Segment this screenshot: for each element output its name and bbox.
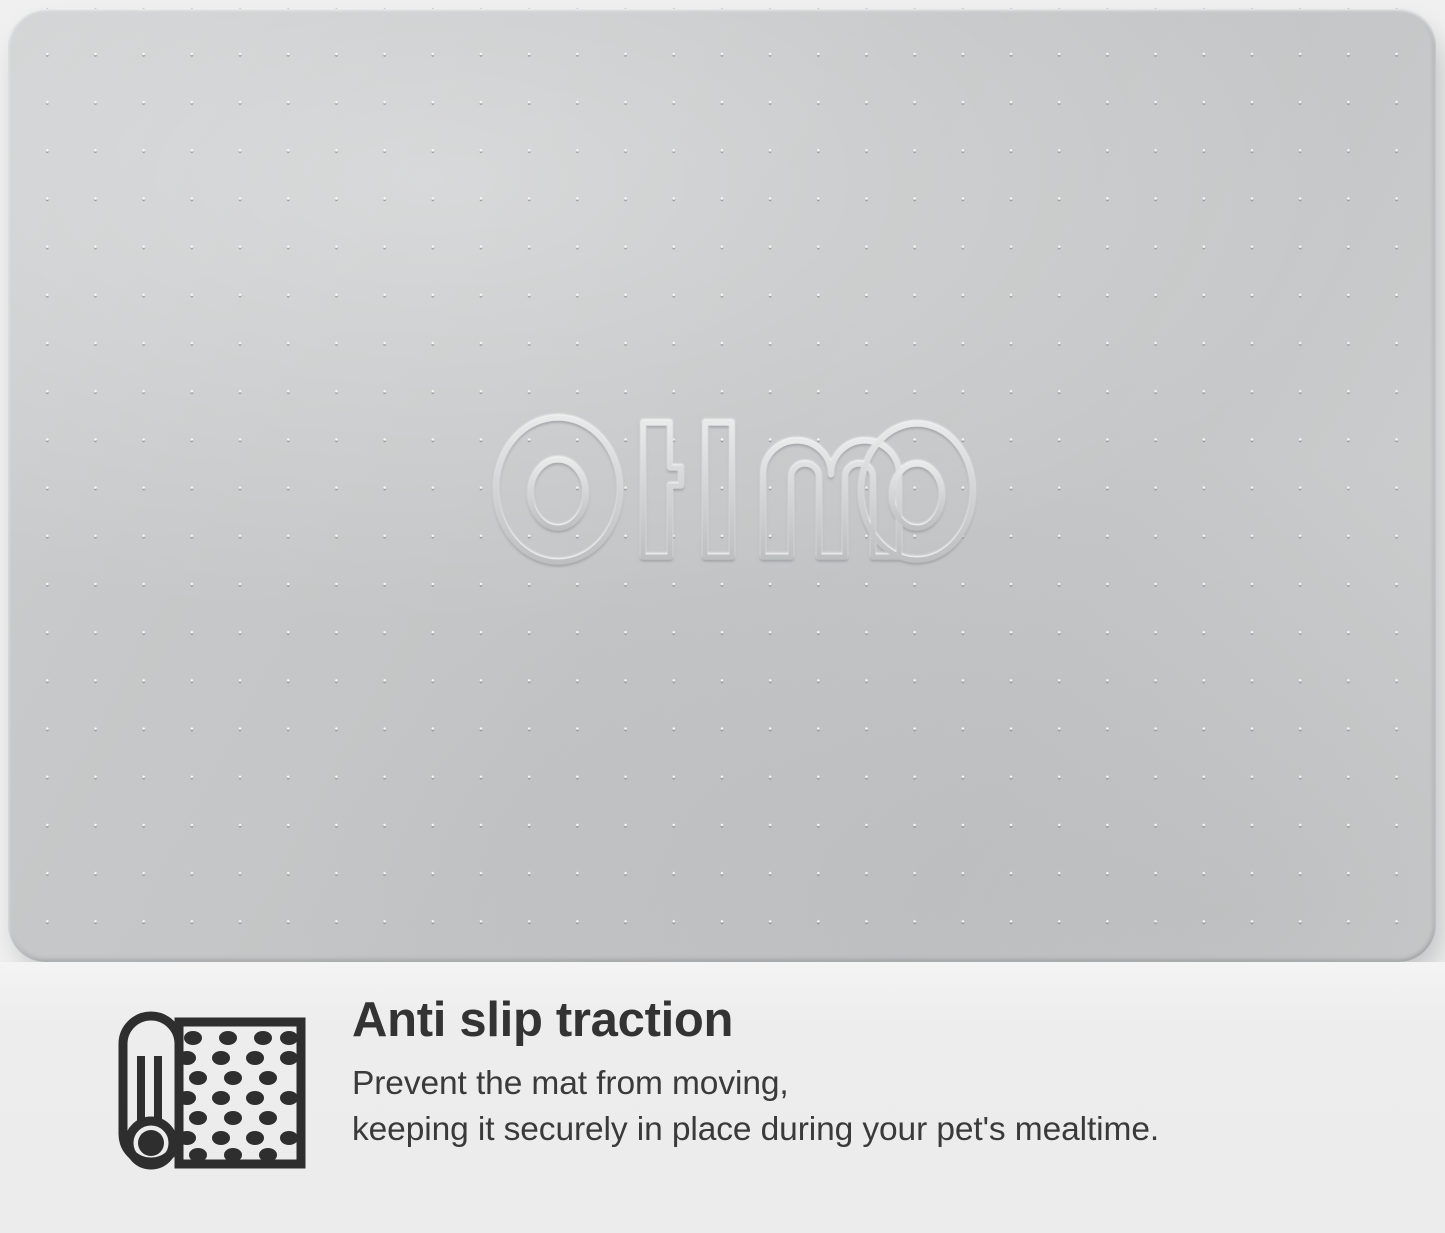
feature-title: Anti slip traction: [352, 996, 1405, 1046]
mat-dot-texture: [8, 8, 1436, 962]
feature-text-block: Anti slip traction Prevent the mat from …: [352, 996, 1405, 1152]
feature-description-line-1: Prevent the mat from moving,: [352, 1046, 1405, 1106]
feature-callout-panel: Anti slip traction Prevent the mat from …: [0, 962, 1445, 1233]
product-feature-graphic: Anti slip traction Prevent the mat from …: [0, 0, 1445, 1233]
feature-description-line-2: keeping it securely in place during your…: [352, 1106, 1405, 1152]
pet-food-mat: [8, 8, 1436, 962]
ohmo-brand-logo: [491, 412, 977, 568]
product-image-area: [0, 0, 1445, 985]
rolled-mat-with-dots-icon: [113, 1000, 311, 1178]
mat-lighting-sheen: [8, 8, 1436, 962]
